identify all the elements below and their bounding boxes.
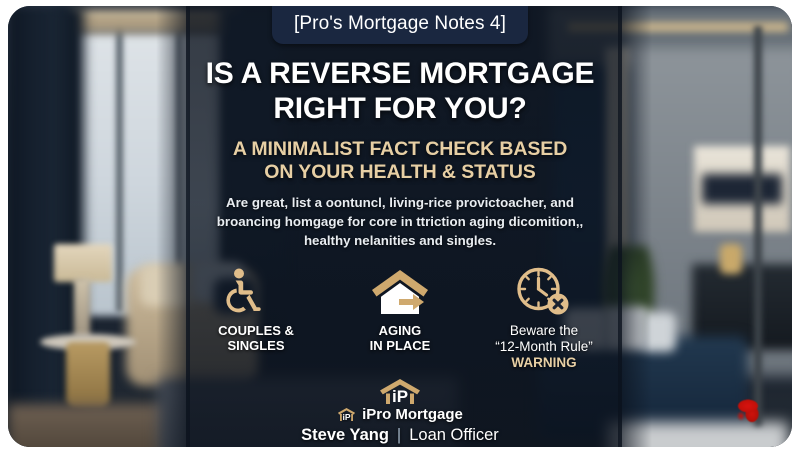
- series-badge: [Pro's Mortgage Notes 4]: [272, 6, 528, 44]
- feature-aging-in-place: AGING IN PLACE: [334, 262, 466, 354]
- agent-credit-line: Steve Yang | Loan Officer: [301, 426, 499, 445]
- feature-3-caption-line-2: “12-Month Rule”: [495, 339, 593, 354]
- brand-company-line: iP iPro Mortgage: [337, 406, 463, 423]
- house-with-arrow-icon: [369, 262, 431, 318]
- body-line-1: Are great, list a oontuncl, living-rice …: [226, 195, 547, 210]
- svg-text:iP: iP: [392, 387, 408, 405]
- body-paragraph: Are great, list a oontuncl, living-rice …: [194, 194, 606, 251]
- agent-name: Steve Yang: [301, 426, 389, 445]
- feature-twelve-month-rule: Beware the “12-Month Rule” WARNING: [478, 262, 610, 371]
- ipro-house-logo-small: iP: [337, 407, 356, 422]
- poster-card: [Pro's Mortgage Notes 4] IS A REVERSE MO…: [8, 6, 792, 447]
- feature-2-caption-line-1: AGING: [379, 323, 422, 338]
- feature-1-caption-line-2: SINGLES: [227, 338, 284, 353]
- feature-2-caption-line-2: IN PLACE: [370, 338, 431, 353]
- feature-couples-singles: COUPLES & SINGLES: [190, 262, 322, 354]
- feature-3-caption-line-1: Beware the: [510, 323, 578, 338]
- feature-caption-twelve-month-rule: Beware the “12-Month Rule” WARNING: [495, 323, 593, 371]
- headline-line-1: IS A REVERSE MORTGAGE: [206, 57, 595, 92]
- ipro-house-logo-large: iP: [377, 377, 423, 405]
- feature-1-caption-line-1: COUPLES &: [218, 323, 294, 338]
- subheading: A MINIMALIST FACT CHECK BASED ON YOUR HE…: [233, 138, 567, 185]
- feature-caption-couples-singles: COUPLES & SINGLES: [218, 323, 294, 354]
- brand-footer: iP iP iPro Mortgage Steve Yang | Loan Of…: [301, 377, 499, 445]
- headline-line-2: RIGHT FOR YOU?: [206, 92, 595, 127]
- clock-with-x-warning-icon: [515, 262, 573, 318]
- poster-frame: [Pro's Mortgage Notes 4] IS A REVERSE MO…: [0, 0, 800, 454]
- feature-caption-aging-in-place: AGING IN PLACE: [370, 323, 431, 354]
- svg-text:iP: iP: [343, 412, 351, 422]
- feature-icon-row: COUPLES & SINGLES: [190, 262, 610, 371]
- page-title: IS A REVERSE MORTGAGE RIGHT FOR YOU?: [206, 57, 595, 127]
- subheading-line-2: ON YOUR HEALTH & STATUS: [233, 161, 567, 184]
- brand-company-name: iPro Mortgage: [362, 406, 463, 423]
- wheelchair-and-person-icon: [223, 262, 289, 318]
- poster-content: [Pro's Mortgage Notes 4] IS A REVERSE MO…: [8, 6, 792, 447]
- feature-3-caption-warning: WARNING: [495, 355, 593, 371]
- agent-role: Loan Officer: [409, 426, 499, 445]
- agent-separator: |: [397, 426, 401, 445]
- subheading-line-1: A MINIMALIST FACT CHECK BASED: [233, 138, 567, 161]
